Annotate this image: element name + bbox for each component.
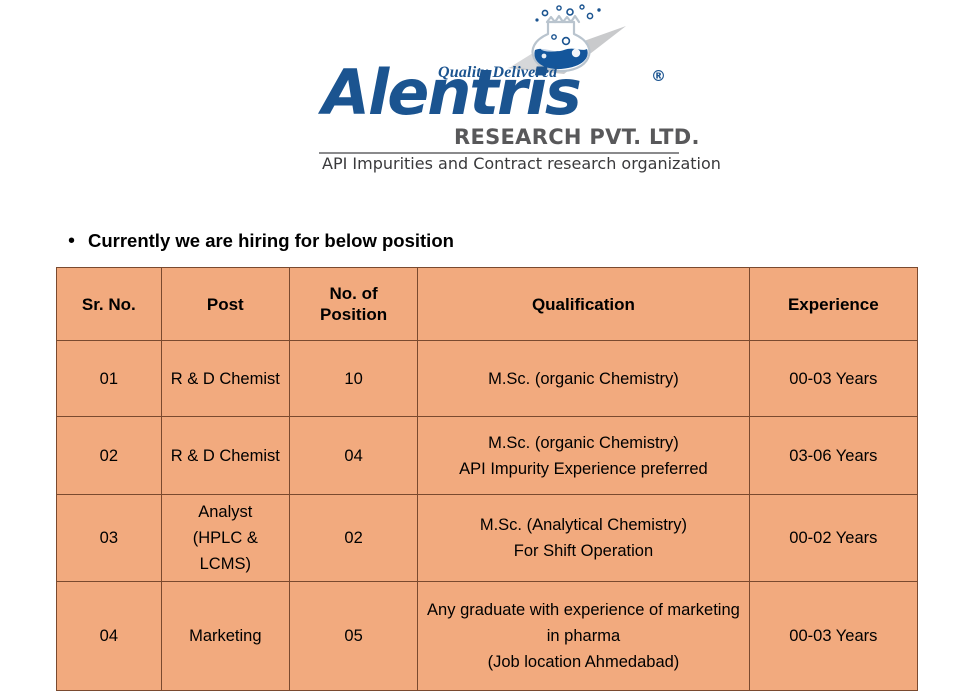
cell-sr-no: 02 [57,417,162,495]
cell-qualification: Any graduate with experience of marketin… [418,582,749,691]
cell-lines-qualification: M.Sc. (organic Chemistry) API Impurity E… [424,430,742,482]
cell-line: For Shift Operation [424,538,742,564]
cell-lines-post: R & D Chemist [168,366,283,392]
header-line: Experience [756,294,911,315]
column-header-qualification: Qualification [418,268,749,341]
cell-experience: 03-06 Years [749,417,917,495]
header-lines-sr-no: Sr. No. [63,294,155,315]
cell-positions: 10 [289,341,417,417]
cell-sr-no: 01 [57,341,162,417]
cell-positions: 04 [289,417,417,495]
table-header-row: Sr. No. Post No. of Position Qualificati… [57,268,918,341]
cell-experience: 00-03 Years [749,341,917,417]
column-header-experience: Experience [749,268,917,341]
table-row: 04 Marketing 05 Any graduate with experi… [57,582,918,691]
header-line: Post [168,294,283,315]
cell-qualification: M.Sc. (Analytical Chemistry) For Shift O… [418,495,749,582]
column-header-sr-no: Sr. No. [57,268,162,341]
cell-sr-no: 04 [57,582,162,691]
cell-lines-qualification: M.Sc. (Analytical Chemistry) For Shift O… [424,512,742,564]
cell-lines-post: R & D Chemist [168,443,283,469]
cell-post: R & D Chemist [161,417,289,495]
registered-trademark-icon: ® [651,67,666,85]
cell-line: (Job location Ahmedabad) [424,649,742,675]
cell-line: (HPLC & LCMS) [168,525,283,577]
header-line: Sr. No. [63,294,155,315]
header-line: No. of [296,283,411,304]
hiring-heading-text: Currently we are hiring for below positi… [88,230,454,252]
logo-slogan: Quality Delivered [438,64,557,82]
cell-line: M.Sc. (Analytical Chemistry) [424,512,742,538]
cell-lines-post: Marketing [168,623,283,649]
cell-line: Analyst [168,499,283,525]
cell-line: Any graduate with experience of marketin… [424,597,742,649]
header-line: Position [296,304,411,325]
cell-line: R & D Chemist [168,443,283,469]
header-lines-qualification: Qualification [424,294,742,315]
column-header-post: Post [161,268,289,341]
logo-tagline: API Impurities and Contract research org… [322,154,680,173]
job-openings-table: Sr. No. Post No. of Position Qualificati… [56,267,918,691]
cell-post: Marketing [161,582,289,691]
table-row: 02 R & D Chemist 04 M.Sc. (organic Chemi… [57,417,918,495]
cell-experience: 00-03 Years [749,582,917,691]
cell-qualification: M.Sc. (organic Chemistry) API Impurity E… [418,417,749,495]
cell-line: M.Sc. (organic Chemistry) [424,430,742,456]
cell-line: Marketing [168,623,283,649]
cell-lines-post: Analyst (HPLC & LCMS) [168,499,283,577]
header-lines-post: Post [168,294,283,315]
cell-line: API Impurity Experience preferred [424,456,742,482]
table-row: 01 R & D Chemist 10 M.Sc. (organic Chemi… [57,341,918,417]
cell-experience: 00-02 Years [749,495,917,582]
header-lines-no-of-position: No. of Position [296,283,411,325]
cell-lines-qualification: M.Sc. (organic Chemistry) [424,366,742,392]
cell-qualification: M.Sc. (organic Chemistry) [418,341,749,417]
header-lines-experience: Experience [756,294,911,315]
hiring-heading: • Currently we are hiring for below posi… [68,230,454,252]
header-line: Qualification [424,294,742,315]
logo-company-suffix: RESEARCH PVT. LTD. [454,125,700,149]
table-row: 03 Analyst (HPLC & LCMS) 02 M.Sc. (Analy… [57,495,918,582]
cell-post: R & D Chemist [161,341,289,417]
bullet-icon: • [68,230,88,252]
cell-sr-no: 03 [57,495,162,582]
cell-line: R & D Chemist [168,366,283,392]
cell-positions: 05 [289,582,417,691]
cell-line: M.Sc. (organic Chemistry) [424,366,742,392]
cell-positions: 02 [289,495,417,582]
cell-post: Analyst (HPLC & LCMS) [161,495,289,582]
cell-lines-qualification: Any graduate with experience of marketin… [424,597,742,675]
column-header-no-of-position: No. of Position [289,268,417,341]
company-logo: Alentris ® Quality Delivered RESEARCH PV… [318,4,680,174]
